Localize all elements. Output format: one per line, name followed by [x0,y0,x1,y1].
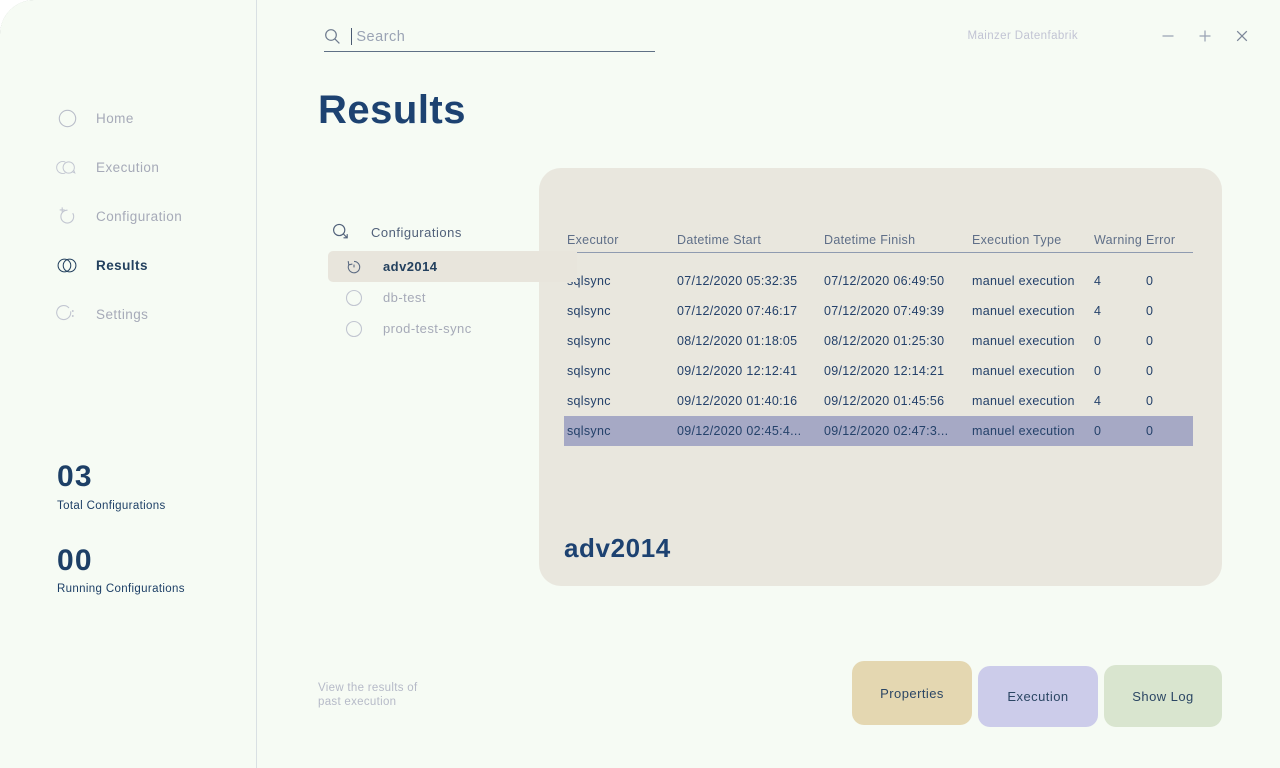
properties-button[interactable]: Properties [852,661,972,725]
cell-error: 0 [1146,304,1186,318]
venn-circles-icon [55,253,79,277]
sidebar-item-label: Results [96,258,148,273]
column-header-warning: Warning [1094,233,1146,247]
cell-datetime-finish: 09/12/2020 02:47:3... [824,424,972,438]
configurations-heading: Configurations [328,219,598,245]
cell-datetime-start: 08/12/2020 01:18:05 [677,334,824,348]
sidebar-item-label: Configuration [96,209,182,224]
cell-datetime-finish: 09/12/2020 12:14:21 [824,364,972,378]
table-row[interactable]: sqlsync 07/12/2020 07:46:17 07/12/2020 0… [564,296,1193,326]
cell-datetime-start: 09/12/2020 12:12:41 [677,364,824,378]
cell-warning: 0 [1094,424,1146,438]
cell-warning: 0 [1094,364,1146,378]
config-item-label: prod-test-sync [383,321,472,336]
circle-plus-icon [55,204,79,228]
cell-executor: sqlsync [564,424,677,438]
history-clock-icon [345,258,363,276]
sidebar-item-configuration[interactable]: Configuration [0,198,256,234]
table-row[interactable]: sqlsync 09/12/2020 12:12:41 09/12/2020 1… [564,356,1193,386]
minimize-icon[interactable] [1156,24,1180,48]
cell-datetime-finish: 08/12/2020 01:25:30 [824,334,972,348]
sidebar-item-label: Home [96,111,134,126]
search-arrow-icon [331,222,351,242]
cell-datetime-finish: 07/12/2020 06:49:50 [824,274,972,288]
cell-execution-type: manuel execution [972,424,1094,438]
show-log-button[interactable]: Show Log [1104,665,1222,727]
running-configurations-label: Running Configurations [57,583,185,595]
total-configurations-label: Total Configurations [57,500,185,512]
circle-outline-icon [345,320,363,338]
footer-note-line-1: View the results of [318,681,417,695]
cell-error: 0 [1146,274,1186,288]
results-card: Executor Datetime Start Datetime Finish … [539,168,1222,586]
column-header-execution-type: Execution Type [972,233,1094,247]
cell-error: 0 [1146,364,1186,378]
close-icon[interactable] [1230,24,1254,48]
sidebar-item-label: Settings [96,307,148,322]
sidebar-nav: Home Execution [0,100,256,345]
cell-error: 0 [1146,334,1186,348]
cell-execution-type: manuel execution [972,334,1094,348]
config-item-label: db-test [383,290,426,305]
circle-outline-icon [55,106,79,130]
config-item-db-test[interactable]: db-test [328,282,598,313]
sidebar-item-results[interactable]: Results [0,247,256,283]
cell-datetime-finish: 07/12/2020 07:49:39 [824,304,972,318]
sidebar-item-home[interactable]: Home [0,100,256,136]
app-window: Home Execution [0,0,1280,768]
table-row[interactable]: sqlsync 08/12/2020 01:18:05 08/12/2020 0… [564,326,1193,356]
column-header-datetime-start: Datetime Start [677,233,824,247]
column-header-error: Error [1146,233,1186,247]
total-configurations-value: 03 [57,460,185,495]
cell-execution-type: manuel execution [972,394,1094,408]
cell-warning: 4 [1094,304,1146,318]
configurations-panel: Configurations adv2014 db-test [328,219,598,344]
cell-executor: sqlsync [564,394,677,408]
cell-error: 0 [1146,394,1186,408]
table-row[interactable]: sqlsync 07/12/2020 05:32:35 07/12/2020 0… [564,266,1193,296]
sidebar-item-settings[interactable]: Settings [0,296,256,332]
double-circle-icon [55,155,79,179]
cell-datetime-start: 09/12/2020 01:40:16 [677,394,824,408]
config-item-adv2014[interactable]: adv2014 [328,251,577,282]
configurations-list: adv2014 db-test prod-test-sync [328,251,598,344]
page-title: Results [318,88,466,133]
circle-outline-icon [345,289,363,307]
sidebar-item-label: Execution [96,160,159,175]
cell-execution-type: manuel execution [972,274,1094,288]
action-buttons: Properties Execution Show Log [852,661,1222,727]
cell-error: 0 [1146,424,1186,438]
configurations-heading-label: Configurations [371,225,462,240]
footer-note: View the results of past execution [318,681,417,710]
table-row-selected[interactable]: sqlsync 09/12/2020 02:45:4... 09/12/2020… [564,416,1193,446]
cell-warning: 4 [1094,274,1146,288]
footer-note-line-2: past execution [318,695,417,709]
config-item-prod-test-sync[interactable]: prod-test-sync [328,313,598,344]
table-row[interactable]: sqlsync 09/12/2020 01:40:16 09/12/2020 0… [564,386,1193,416]
search-input[interactable]: Search [324,22,655,52]
maximize-icon[interactable] [1193,24,1217,48]
cell-execution-type: manuel execution [972,364,1094,378]
text-caret [351,28,352,45]
cell-execution-type: manuel execution [972,304,1094,318]
selected-configuration-name: adv2014 [564,533,671,564]
column-header-datetime-finish: Datetime Finish [824,233,972,247]
search-placeholder: Search [356,29,405,45]
cell-warning: 4 [1094,394,1146,408]
cell-executor: sqlsync [564,364,677,378]
cell-datetime-start: 07/12/2020 05:32:35 [677,274,824,288]
cell-datetime-start: 09/12/2020 02:45:4... [677,424,824,438]
sidebar-item-execution[interactable]: Execution [0,149,256,185]
cell-warning: 0 [1094,334,1146,348]
cell-datetime-finish: 09/12/2020 01:45:56 [824,394,972,408]
cell-datetime-start: 07/12/2020 07:46:17 [677,304,824,318]
window-brand: Mainzer Datenfabrik [967,30,1078,42]
table-header-row: Executor Datetime Start Datetime Finish … [564,228,1193,253]
sidebar: Home Execution [0,0,257,768]
search-icon [324,28,341,45]
running-configurations-value: 00 [57,544,185,579]
config-item-label: adv2014 [383,259,437,274]
window-controls [1156,24,1254,48]
execution-button[interactable]: Execution [978,666,1098,727]
sidebar-stats: 03 Total Configurations 00 Running Confi… [57,460,185,627]
circle-dots-icon [55,302,79,326]
results-table: Executor Datetime Start Datetime Finish … [564,228,1193,446]
